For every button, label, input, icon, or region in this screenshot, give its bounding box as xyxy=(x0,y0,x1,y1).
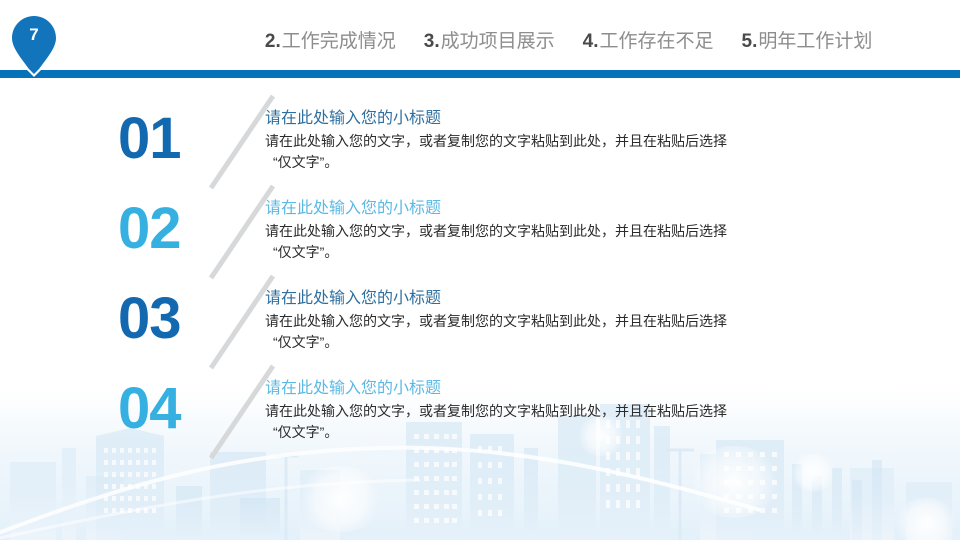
item-body-line1: 请在此处输入您的文字，或者复制您的文字粘贴到此处，并且在粘贴后选择 xyxy=(265,133,727,149)
item-number: 03 xyxy=(118,286,210,352)
list-item[interactable]: 01 请在此处输入您的小标题 请在此处输入您的文字，或者复制您的文字粘贴到此处，… xyxy=(0,96,960,186)
nav-item-1-number: 1. xyxy=(84,20,100,64)
nav-item-4[interactable]: 4. 工作存在不足 xyxy=(569,20,728,64)
content-list: 01 请在此处输入您的小标题 请在此处输入您的文字，或者复制您的文字粘贴到此处，… xyxy=(0,96,960,456)
list-item[interactable]: 03 请在此处输入您的小标题 请在此处输入您的文字，或者复制您的文字粘贴到此处，… xyxy=(0,276,960,366)
item-body: 请在此处输入您的文字，或者复制您的文字粘贴到此处，并且在粘贴后选择 “仅文字”。 xyxy=(265,401,905,443)
nav-item-3-label: 成功项目展示 xyxy=(441,20,555,64)
glow-orb xyxy=(790,454,836,492)
pin-tip-notch-icon xyxy=(26,69,42,79)
nav-item-3-number: 3. xyxy=(424,20,440,64)
item-body-line1: 请在此处输入您的文字，或者复制您的文字粘贴到此处，并且在粘贴后选择 xyxy=(265,313,727,329)
nav-item-5-label: 明年工作计划 xyxy=(758,20,872,64)
item-text-block: 请在此处输入您的小标题 请在此处输入您的文字，或者复制您的文字粘贴到此处，并且在… xyxy=(265,198,905,263)
nav-item-4-number: 4. xyxy=(583,20,599,64)
nav-item-1[interactable]: 1. 年度工作概述 xyxy=(62,20,245,64)
item-body-line2: “仅文字”。 xyxy=(265,332,905,353)
item-body: 请在此处输入您的文字，或者复制您的文字粘贴到此处，并且在粘贴后选择 “仅文字”。 xyxy=(265,311,905,353)
list-item[interactable]: 02 请在此处输入您的小标题 请在此处输入您的文字，或者复制您的文字粘贴到此处，… xyxy=(0,186,960,276)
section-nav: 1. 年度工作概述 2. 工作完成情况 3. 成功项目展示 4. 工作存在不足 … xyxy=(62,20,886,64)
slide-canvas: 7 1. 年度工作概述 2. 工作完成情况 3. 成功项目展示 xyxy=(0,0,960,540)
item-text-block: 请在此处输入您的小标题 请在此处输入您的文字，或者复制您的文字粘贴到此处，并且在… xyxy=(265,288,905,353)
nav-item-5[interactable]: 5. 明年工作计划 xyxy=(728,20,887,64)
item-title: 请在此处输入您的小标题 xyxy=(265,198,905,220)
nav-item-2-label: 工作完成情况 xyxy=(282,20,396,64)
item-body-line2: “仅文字”。 xyxy=(265,242,905,263)
item-text-block: 请在此处输入您的小标题 请在此处输入您的文字，或者复制您的文字粘贴到此处，并且在… xyxy=(265,108,905,173)
item-title: 请在此处输入您的小标题 xyxy=(265,288,905,310)
header-divider-bar xyxy=(0,70,960,78)
list-item[interactable]: 04 请在此处输入您的小标题 请在此处输入您的文字，或者复制您的文字粘贴到此处，… xyxy=(0,366,960,456)
slide-header: 7 1. 年度工作概述 2. 工作完成情况 3. 成功项目展示 xyxy=(0,0,960,78)
item-text-block: 请在此处输入您的小标题 请在此处输入您的文字，或者复制您的文字粘贴到此处，并且在… xyxy=(265,378,905,443)
item-number: 02 xyxy=(118,196,210,262)
item-title: 请在此处输入您的小标题 xyxy=(265,378,905,400)
page-number-label: 7 xyxy=(12,24,56,46)
item-body-line2: “仅文字”。 xyxy=(265,152,905,173)
item-body-line2: “仅文字”。 xyxy=(265,422,905,443)
item-body: 请在此处输入您的文字，或者复制您的文字粘贴到此处，并且在粘贴后选择 “仅文字”。 xyxy=(265,221,905,263)
nav-item-4-label: 工作存在不足 xyxy=(599,20,713,64)
nav-item-2-number: 2. xyxy=(265,20,281,64)
nav-item-2[interactable]: 2. 工作完成情况 xyxy=(251,20,410,64)
nav-item-3[interactable]: 3. 成功项目展示 xyxy=(410,20,569,64)
item-body-line1: 请在此处输入您的文字，或者复制您的文字粘贴到此处，并且在粘贴后选择 xyxy=(265,403,727,419)
nav-item-1-label: 年度工作概述 xyxy=(101,20,215,64)
item-title: 请在此处输入您的小标题 xyxy=(265,108,905,130)
item-number: 01 xyxy=(118,106,210,172)
glow-orb xyxy=(686,446,782,518)
glow-orb xyxy=(296,466,384,532)
item-number: 04 xyxy=(118,376,210,442)
glow-orb xyxy=(894,498,958,540)
nav-item-5-number: 5. xyxy=(742,20,758,64)
item-body-line1: 请在此处输入您的文字，或者复制您的文字粘贴到此处，并且在粘贴后选择 xyxy=(265,223,727,239)
page-number-pin: 7 xyxy=(12,16,56,76)
item-body: 请在此处输入您的文字，或者复制您的文字粘贴到此处，并且在粘贴后选择 “仅文字”。 xyxy=(265,131,905,173)
